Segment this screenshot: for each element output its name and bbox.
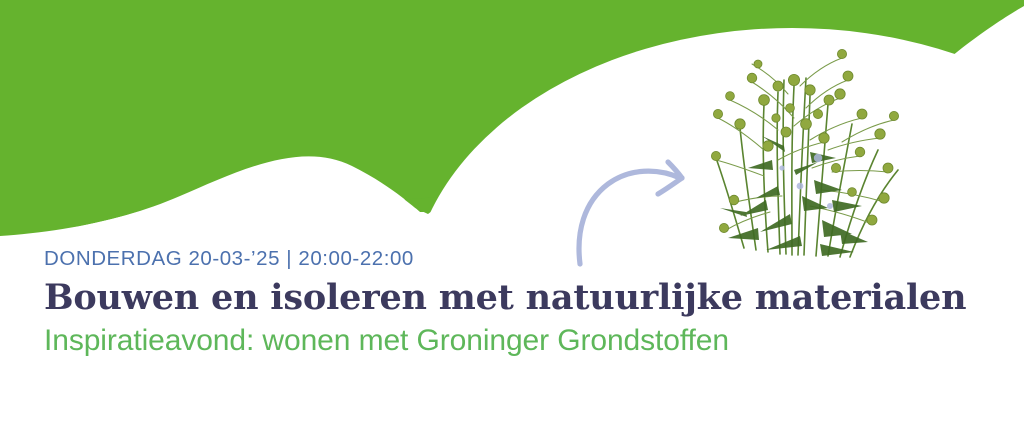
green-notch-point <box>398 196 452 214</box>
event-date: DONDERDAG 20-03-’25 | 20:00-22:00 <box>44 246 994 272</box>
event-banner: DONDERDAG 20-03-’25 | 20:00-22:00 Bouwen… <box>0 0 1024 427</box>
event-subtitle: Inspiratieavond: wonen met Groninger Gro… <box>44 321 994 361</box>
event-title: Bouwen en isoleren met natuurlijke mater… <box>44 276 994 320</box>
event-text-block: DONDERDAG 20-03-’25 | 20:00-22:00 Bouwen… <box>44 246 994 361</box>
flax-plant-svg <box>672 0 944 258</box>
flax-plant-photo <box>672 0 944 258</box>
